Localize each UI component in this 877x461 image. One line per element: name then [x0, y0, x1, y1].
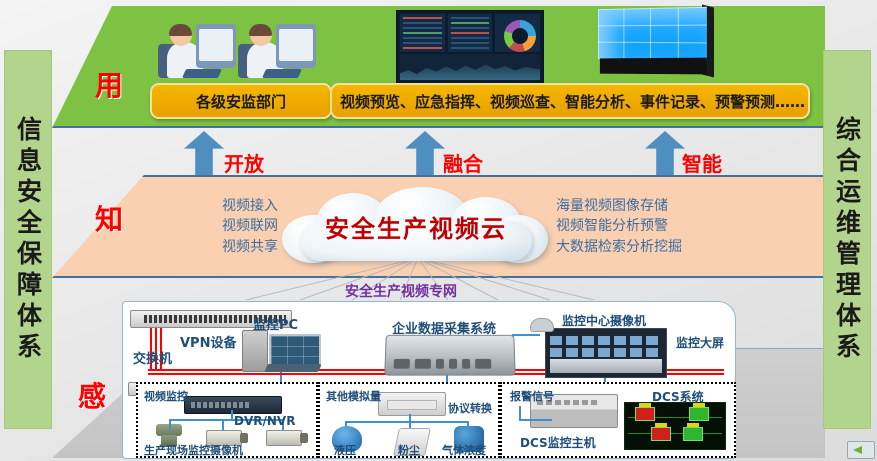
operator-workstations-illustration [158, 8, 318, 80]
control-center-camera-label: 监控中心摄像机 [562, 312, 646, 329]
dashboard-trend-panel [400, 54, 540, 80]
data-acquisition-system-device [384, 335, 516, 376]
arrow-label-intelligent: 智能 [682, 148, 722, 177]
operator-figure [158, 10, 236, 80]
monitor-big-screen-label: 监控大屏 [676, 334, 724, 351]
left-side-panel-label: 信息安全保障体系 [16, 116, 41, 364]
daq-ports [394, 359, 492, 369]
cctv-camera-device [266, 430, 302, 446]
private-network-label: 安全生产视频专网 [345, 281, 457, 301]
donut-chart-icon [504, 20, 536, 52]
control-center-camera-icon [530, 318, 554, 332]
cloud-right-capabilities: 海量视频图像存储 视频智能分析预警 大数据检索分析挖掘 [556, 196, 776, 257]
arrow-up-icon-intelligent [645, 131, 685, 175]
dashboard-donut-panel [495, 14, 540, 52]
taskbar-nub-icon[interactable] [847, 441, 875, 459]
cloud-left-capabilities: 视频接入 视频联网 视频共享 [148, 196, 278, 257]
pill-department[interactable]: 各级安监部门 [150, 83, 332, 119]
monitor-pc-label: 监控PC [253, 314, 298, 333]
dcs-group: 报警信号 DCS监控主机 DCS系统 [500, 382, 736, 458]
keyboard-shape [182, 69, 222, 78]
arrow-label-converge: 融合 [443, 148, 483, 177]
group3-link-lines [516, 406, 556, 434]
dcs-host-label: DCS监控主机 [520, 434, 596, 451]
pc-monitor-shape [269, 334, 321, 368]
layer-label-sense: 感 [78, 375, 106, 415]
video-wall-base [600, 58, 707, 75]
screen-shape [279, 29, 313, 61]
hydraulic-label: 液压 [334, 442, 356, 458]
cloud-title: 安全生产视频云 [282, 209, 550, 244]
right-side-panel: 综合运维管理体系 [823, 50, 871, 429]
port-shape [475, 359, 491, 369]
analytics-dashboard-screen [396, 10, 544, 84]
dust-label: 粉尘 [398, 442, 420, 458]
dashboard-top-panels [400, 14, 540, 52]
pc-tower-shape [242, 330, 268, 372]
port-shape [462, 359, 470, 369]
analog-signal-group: 其他模拟量 协议转换 液压 粉尘 气体浓度 [318, 382, 500, 458]
video-surveillance-group: 视频监控 DVR/NVR 生产现场监控摄像机 [136, 382, 318, 458]
port-shape [436, 359, 444, 369]
left-side-panel: 信息安全保障体系 [4, 50, 52, 429]
data-acquisition-system-label: 企业数据采集系统 [392, 318, 496, 337]
hair-shape [249, 24, 272, 36]
layer-label-know: 知 [95, 198, 123, 238]
dashboard-table-right [448, 14, 493, 52]
monitor-pc-device [242, 330, 320, 372]
arrow-up-icon-open [184, 131, 224, 175]
dcs-screen-image [624, 402, 726, 450]
analog-signal-title: 其他模拟量 [326, 388, 381, 404]
screen-row [550, 336, 662, 345]
alarm-signal-title: 报警信号 [510, 388, 554, 404]
sparkline-area-chart [400, 60, 540, 80]
dashboard-table-left [400, 14, 445, 52]
port-shape [394, 359, 410, 369]
switch-device-label: 交换机 [133, 348, 172, 367]
right-side-panel-label: 综合运维管理体系 [835, 116, 860, 364]
protocol-converter-device [378, 392, 446, 416]
console-desk-shape [550, 359, 662, 373]
video-wall-display [594, 8, 722, 76]
screen-row [550, 348, 662, 357]
field-camera-label: 生产现场监控摄像机 [144, 442, 243, 458]
port-shape [449, 359, 457, 369]
vpn-device-label: VPN设备 [180, 332, 236, 351]
video-surveillance-title: 视频监控 [144, 388, 188, 404]
operator-figure [238, 10, 316, 80]
blue-link [512, 334, 540, 336]
pc-keyboard-shape [264, 364, 321, 372]
control-center-room-image [545, 328, 667, 378]
dcs-system-label: DCS系统 [652, 388, 704, 405]
layer-label-use: 用 [95, 64, 123, 104]
video-wall-screens [598, 7, 707, 61]
port-shape [415, 359, 431, 369]
pill-functions-label: 视频预览、应急指挥、视频巡查、智能分析、事件记录、预警预测…… [340, 91, 805, 112]
keyboard-shape [262, 69, 302, 78]
dvr-nvr-label: DVR/NVR [234, 414, 295, 428]
screen-shape [199, 29, 233, 61]
diagram-canvas: 信息安全保障体系 综合运维管理体系 用 知 感 [0, 0, 877, 461]
pill-functions[interactable]: 视频预览、应急指挥、视频巡查、智能分析、事件记录、预警预测…… [330, 83, 810, 119]
pill-department-label: 各级安监部门 [196, 91, 286, 112]
hair-shape [169, 24, 192, 36]
arrow-label-open: 开放 [224, 148, 264, 177]
protocol-converter-label: 协议转换 [448, 400, 492, 416]
arrow-up-icon-converge [405, 131, 445, 175]
gas-concentration-label: 气体浓度 [442, 442, 486, 458]
